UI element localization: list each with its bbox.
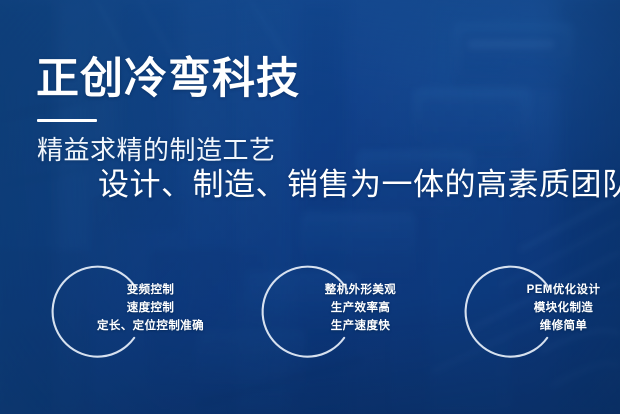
feature-line: PEM优化设计 bbox=[481, 281, 620, 299]
feature-text-3: PEM优化设计 模块化制造 维修简单 bbox=[481, 281, 620, 335]
feature-line: 速度控制 bbox=[68, 299, 233, 317]
feature-line: 生产效率高 bbox=[278, 299, 443, 317]
feature-text-2: 整机外形美观 生产效率高 生产速度快 bbox=[278, 281, 443, 335]
feature-text-1: 变频控制 速度控制 定长、定位控制准确 bbox=[68, 281, 233, 335]
feature-line: 整机外形美观 bbox=[278, 281, 443, 299]
subtitle-line-1: 精益求精的制造工艺 bbox=[37, 134, 606, 166]
feature-item-2: 整机外形美观 生产效率高 生产速度快 bbox=[248, 255, 458, 370]
promo-banner: 正创冷弯科技 精益求精的制造工艺 设计、制造、销售为一体的高素质团队 变频控制 … bbox=[0, 0, 620, 414]
page-title: 正创冷弯科技 bbox=[36, 54, 606, 104]
feature-line: 定长、定位控制准确 bbox=[68, 317, 233, 335]
feature-list: 变频控制 速度控制 定长、定位控制准确 整机外形美观 生产效率高 生产速度快 bbox=[0, 255, 620, 375]
feature-line: 模块化制造 bbox=[481, 299, 620, 317]
feature-line: 维修简单 bbox=[481, 317, 620, 335]
feature-line: 生产速度快 bbox=[278, 317, 443, 335]
subtitle-line-2: 设计、制造、销售为一体的高素质团队 bbox=[98, 166, 606, 204]
title-divider bbox=[37, 119, 97, 122]
headline-block: 正创冷弯科技 精益求精的制造工艺 设计、制造、销售为一体的高素质团队 bbox=[36, 54, 606, 204]
feature-item-1: 变频控制 速度控制 定长、定位控制准确 bbox=[38, 255, 248, 370]
feature-item-3: PEM优化设计 模块化制造 维修简单 bbox=[451, 255, 620, 370]
feature-line: 变频控制 bbox=[68, 281, 233, 299]
